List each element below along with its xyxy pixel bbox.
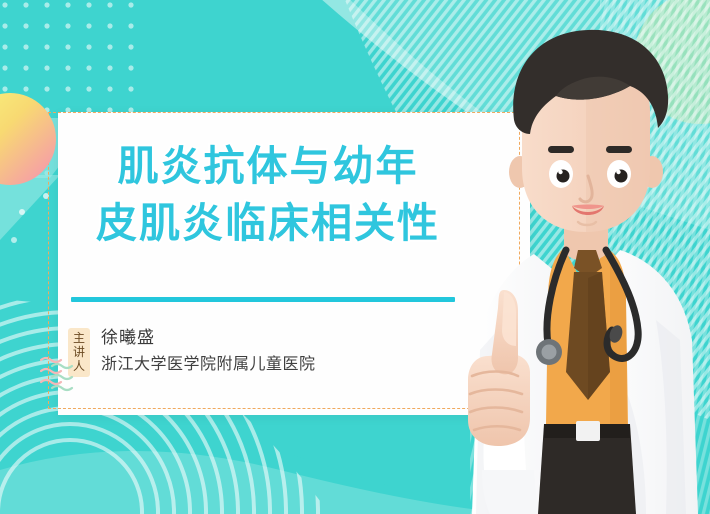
- doctor-trousers: [538, 421, 636, 514]
- doctor-head: [509, 30, 668, 232]
- decor-gradient-circle: [0, 93, 56, 185]
- badge-char-1: 主: [70, 331, 88, 345]
- speaker-name: 徐曦盛: [101, 327, 316, 350]
- eyebrow-left: [548, 146, 574, 153]
- title-line-1: 肌炎抗体与幼年: [58, 138, 478, 195]
- speaker-organization: 浙江大学医学院附属儿童医院: [101, 352, 316, 376]
- title-divider: [71, 297, 455, 302]
- poster-canvas: 肌炎抗体与幼年 皮肌炎临床相关性 主 讲 人 徐曦盛 浙江大学医学院附属儿童医院: [0, 0, 710, 514]
- wave-decoration-icon: [40, 356, 86, 392]
- speaker-details: 徐曦盛 浙江大学医学院附属儿童医院: [101, 327, 316, 376]
- title-line-2: 皮肌炎临床相关性: [58, 195, 478, 252]
- title-block: 肌炎抗体与幼年 皮肌炎临床相关性: [58, 138, 478, 252]
- eyebrow-right: [606, 146, 632, 153]
- doctor-illustration: [460, 0, 710, 514]
- speaker-block: 主 讲 人 徐曦盛 浙江大学医学院附属儿童医院: [68, 327, 316, 377]
